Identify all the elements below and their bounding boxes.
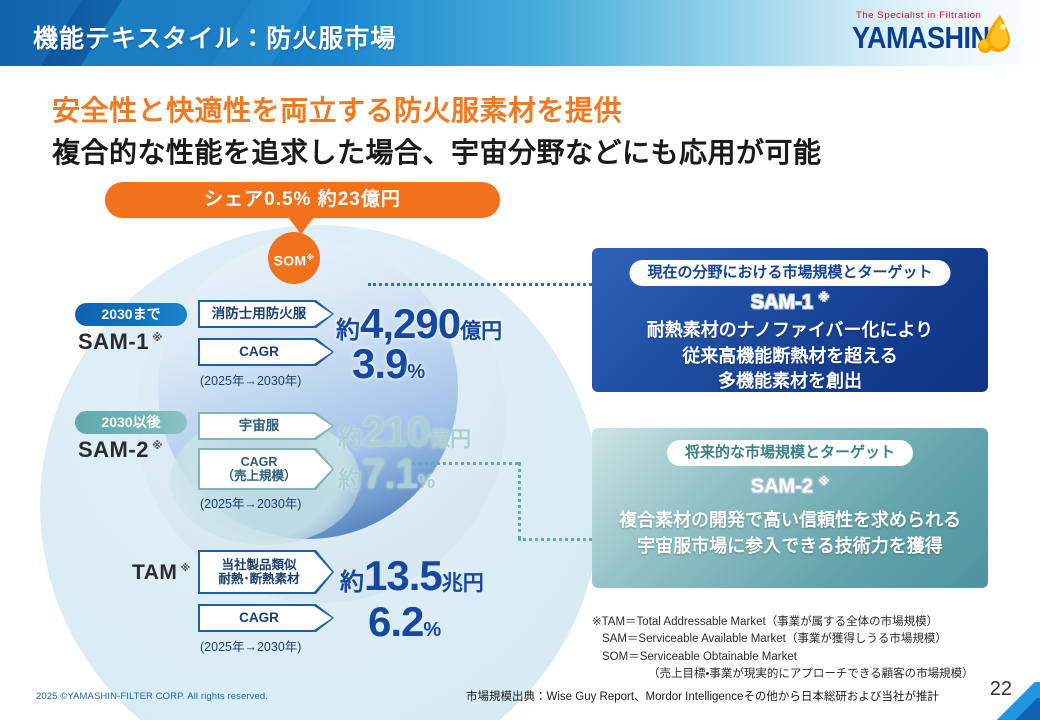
sam2-label: SAM-2※ [78,437,163,463]
tam-product-chevron: 当社製品類似 耐熱･断熱素材 [200,552,332,592]
footnote-som: SOM＝Serviceable Obtainable Market [592,649,1012,666]
slide-root: 機能テキスタイル：防火服市場 The Specialist in Filtrat… [0,0,1040,720]
corner-accent-dark [1014,698,1040,720]
tam-cagr-value: 6.2% [368,598,441,646]
sam2-period-pill: 2030以後 [75,411,187,434]
tam-cagr-chevron: CAGR [200,606,332,630]
sam1-label: SAM-1※ [78,329,163,355]
sam1-product-chevron: 消防士用防火服 [200,302,332,326]
logo-wordmark: YAMASHIN [852,21,990,56]
glossary-footnotes: ※TAM＝Total Addressable Market（事業が属する全体の市… [592,614,1012,683]
footnote-tam: ※TAM＝Total Addressable Market（事業が属する全体の市… [592,614,1012,631]
sam1-product-label: 消防士用防火服 [212,306,307,322]
subtitle-primary: 安全性と快適性を両立する防火服素材を提供 [52,89,622,129]
sam2-cagr-sublabel: （売上規模） [221,469,296,483]
source-note: 市場規模出典：Wise Guy Report、Mordor Intelligen… [466,688,939,704]
sam2-cagr-label: CAGR [241,455,278,469]
sam2-cagr-chevron: CAGR （売上規模） [200,450,332,488]
page-title: 機能テキスタイル：防火服市場 [33,19,396,55]
tam-period-caption: (2025年→2030年) [200,636,301,655]
sam1-connector-top [368,283,616,286]
water-drop-icon [976,13,1016,55]
sam2-box-body-line2: 宇宙服市場に参入できる技術力を獲得 [592,534,988,560]
sam2-box-title: SAM-2 ※ [592,475,988,499]
tam-cagr-label: CAGR [239,610,279,626]
sam2-box-caption: 将来的な市場規模とターゲット [667,440,913,466]
yamashin-logo: The Specialist in Filtration YAMASHIN [848,10,1018,58]
som-share-text: シェア0.5% 約23億円 [105,182,500,218]
tam-product-label-1: 当社製品類似 [221,558,296,572]
sam1-cagr-value: 3.9% [352,340,425,388]
sam1-box-body-line2: 従来高機能断熱材を超える [592,344,988,370]
sam2-market-value: 約210億円 [338,408,471,456]
tam-label: TAM※ [132,561,191,585]
sam1-box-caption: 現在の分野における市場規模とターゲット [629,260,950,286]
tam-market-value: 約13.5兆円 [340,552,484,600]
som-bubble: SOM※ [268,232,320,284]
sam2-box-body: 複合素材の開発で高い信頼性を求められる 宇宙服市場に参入できる技術力を獲得 [592,508,988,559]
sam2-product-label: 宇宙服 [239,418,280,434]
sam1-cagr-label: CAGR [239,344,279,360]
footnote-som-detail: （売上目標・事業が現実的にアプローチできる顧客の市場規模） [592,666,1012,683]
sam1-period-pill: 2030まで [75,303,187,326]
sam2-box-body-line1: 複合素材の開発で高い信頼性を求められる [592,508,988,534]
som-bubble-label: SOM※ [268,232,320,287]
sam2-cagr-value: 約7.1% [338,450,435,498]
logo-tagline: The Specialist in Filtration [856,10,982,21]
sam1-box-body: 耐熱素材のナノファイバー化により 従来高機能断熱材を超える 多機能素材を創出 [592,318,988,392]
copyright-notice: 2025 ©YAMASHIN-FILTER CORP. All rights r… [36,691,268,702]
sam1-box-body-line3: 多機能素材を創出 [592,369,988,392]
som-share-banner: シェア0.5% 約23億円 [105,182,500,218]
subtitle-secondary: 複合的な性能を追求した場合、宇宙分野などにも応用が可能 [52,131,822,171]
sam1-box-title: SAM-1 ※ [592,291,988,315]
tam-product-label-2: 耐熱･断熱素材 [218,572,299,586]
sam2-connector-down [518,462,521,540]
sam2-period-caption: (2025年→2030年) [200,493,301,512]
sam1-box-body-line1: 耐熱素材のナノファイバー化により [592,318,988,344]
sam1-cagr-chevron: CAGR [200,340,332,364]
sam1-period-caption: (2025年→2030年) [200,370,301,389]
sam2-target-box: 将来的な市場規模とターゲット SAM-2 ※ 複合素材の開発で高い信頼性を求めら… [592,428,988,588]
footnote-sam: SAM＝Serviceable Available Market（事業が獲得しう… [592,631,1012,648]
sam1-target-box: 現在の分野における市場規模とターゲット SAM-1 ※ 耐熱素材のナノファイバー… [592,248,988,392]
sam2-product-chevron: 宇宙服 [200,414,332,438]
